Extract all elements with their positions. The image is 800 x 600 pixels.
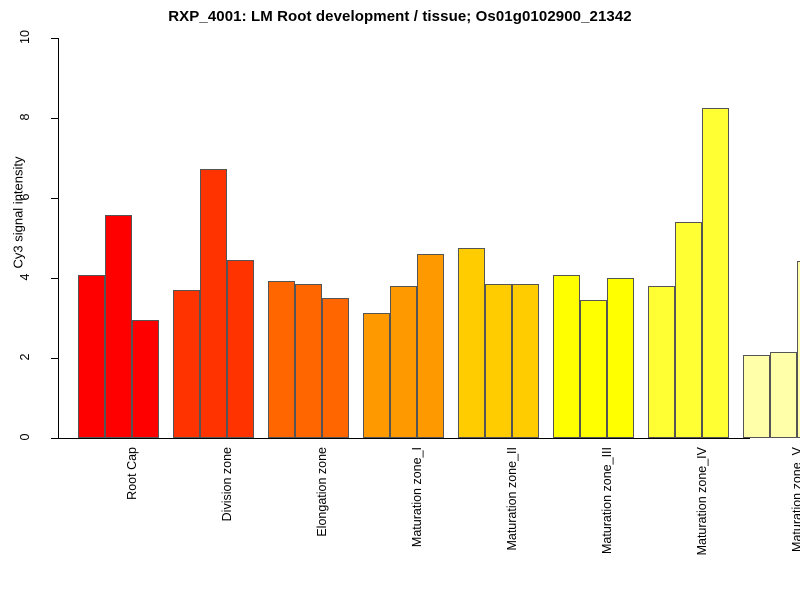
bar [675,222,702,438]
y-tick-mark [51,278,58,279]
y-tick-label: 4 [18,257,32,297]
x-axis-label: Root Cap [125,447,139,500]
x-axis-label: Elongation zone [315,447,329,537]
bar [512,284,539,438]
bar [553,275,580,438]
chart-title: RXP_4001: LM Root development / tissue; … [0,8,800,25]
bar [580,300,607,438]
bar [607,278,634,438]
bar [363,313,390,438]
bar [702,108,729,438]
y-tick-label: 8 [18,97,32,137]
x-axis-label: Maturation zone_III [600,447,614,554]
y-tick-mark [51,198,58,199]
bar [132,320,159,438]
x-axis-label: Maturation zone_IV [695,447,709,555]
y-tick-mark [51,438,58,439]
y-tick-label: 10 [18,17,32,57]
bar [648,286,675,438]
y-tick-mark [51,118,58,119]
bar [78,275,105,438]
bar [322,298,349,438]
y-tick-label: 2 [18,337,32,377]
bar [770,352,797,438]
bar [417,254,444,438]
y-tick-mark [51,358,58,359]
bar [485,284,512,438]
bar [390,286,417,438]
bar [200,169,227,438]
y-tick-mark [51,38,58,39]
x-axis-label: Division zone [220,447,234,521]
y-tick-label: 0 [18,417,32,457]
bar [173,290,200,438]
x-axis-line [58,438,750,439]
x-axis-label: Maturation zone_V [790,447,800,552]
bar [227,260,254,438]
x-axis-label: Maturation zone_II [505,447,519,551]
y-tick-label: 6 [18,177,32,217]
bar [743,355,770,438]
bar [295,284,322,438]
x-axis-label: Maturation zone_I [410,447,424,547]
chart-figure: RXP_4001: LM Root development / tissue; … [0,0,800,600]
bar [458,248,485,438]
plot-area [58,38,750,438]
bar [268,281,295,438]
bar [105,215,132,438]
